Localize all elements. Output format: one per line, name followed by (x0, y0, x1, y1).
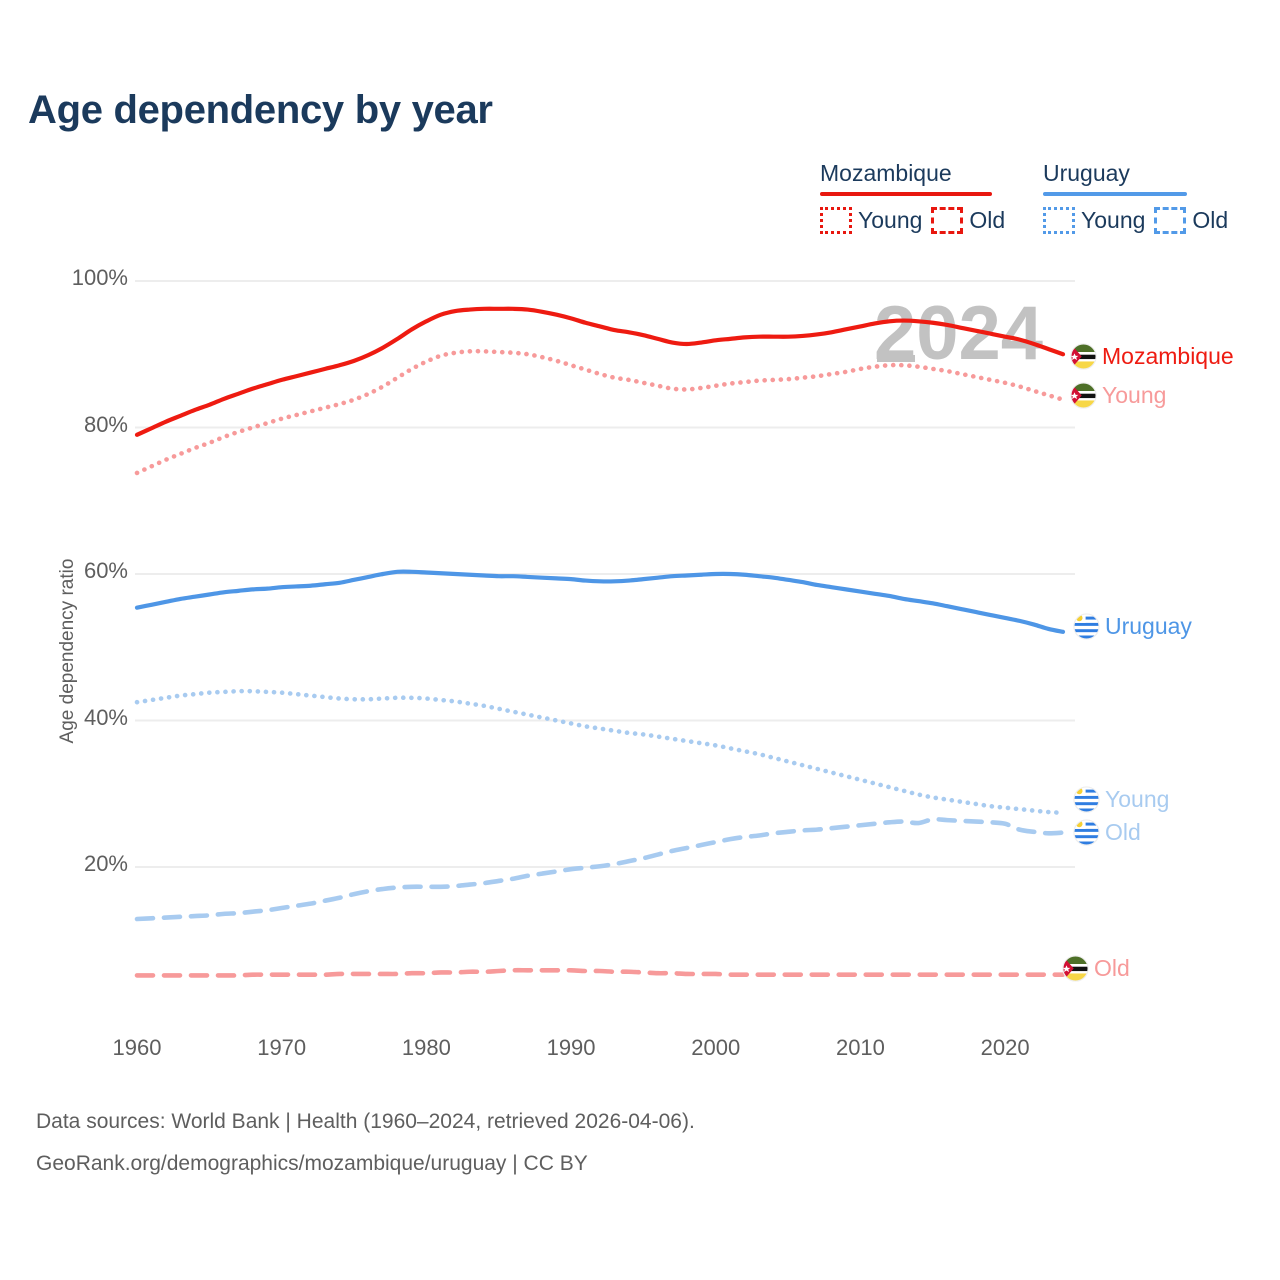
mozambique-flag-icon (1070, 382, 1097, 409)
series-line-mozambique-old (137, 970, 1063, 975)
mozambique-flag-icon (1070, 343, 1097, 370)
end-label-moz-total[interactable]: Mozambique (1070, 343, 1234, 370)
end-label-text: Old (1105, 819, 1141, 846)
uruguay-flag-icon (1073, 819, 1100, 846)
end-label-text: Mozambique (1102, 343, 1234, 370)
series-line-uruguay-young (137, 691, 1063, 813)
end-label-uru-young[interactable]: Young (1073, 786, 1169, 813)
end-label-text: Young (1102, 382, 1166, 409)
line-chart-svg (0, 0, 1280, 1280)
footer-attribution: GeoRank.org/demographics/mozambique/urug… (36, 1152, 588, 1176)
uruguay-flag-icon (1073, 613, 1100, 640)
series-line-mozambique (137, 309, 1063, 435)
series-line-mozambique-young (137, 351, 1063, 473)
series-line-uruguay (137, 572, 1063, 632)
plot-area: Age dependency ratio 100%80%60%40%20% 19… (0, 0, 1280, 1280)
end-label-uru-total[interactable]: Uruguay (1073, 613, 1192, 640)
end-label-text: Young (1105, 786, 1169, 813)
footer-data-sources: Data sources: World Bank | Health (1960–… (36, 1110, 695, 1134)
end-label-moz-young[interactable]: Young (1070, 382, 1166, 409)
end-label-text: Old (1094, 955, 1130, 982)
mozambique-flag-icon (1062, 955, 1089, 982)
chart-page: Age dependency by year Mozambique Young … (0, 0, 1280, 1280)
end-label-uru-old[interactable]: Old (1073, 819, 1141, 846)
end-label-moz-old[interactable]: Old (1062, 955, 1130, 982)
uruguay-flag-icon (1073, 786, 1100, 813)
end-label-text: Uruguay (1105, 613, 1192, 640)
series-line-uruguay-old (137, 819, 1063, 919)
